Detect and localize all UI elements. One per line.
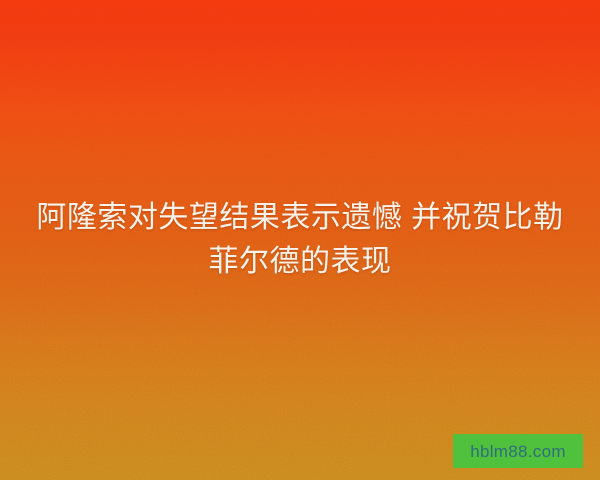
image-canvas: 阿隆索对失望结果表示遗憾 并祝贺比勒菲尔德的表现 hblm88.com xyxy=(0,0,600,480)
watermark-label: hblm88.com xyxy=(470,443,566,460)
headline-text: 阿隆索对失望结果表示遗憾 并祝贺比勒菲尔德的表现 xyxy=(0,196,600,284)
watermark-badge: hblm88.com xyxy=(453,434,583,468)
